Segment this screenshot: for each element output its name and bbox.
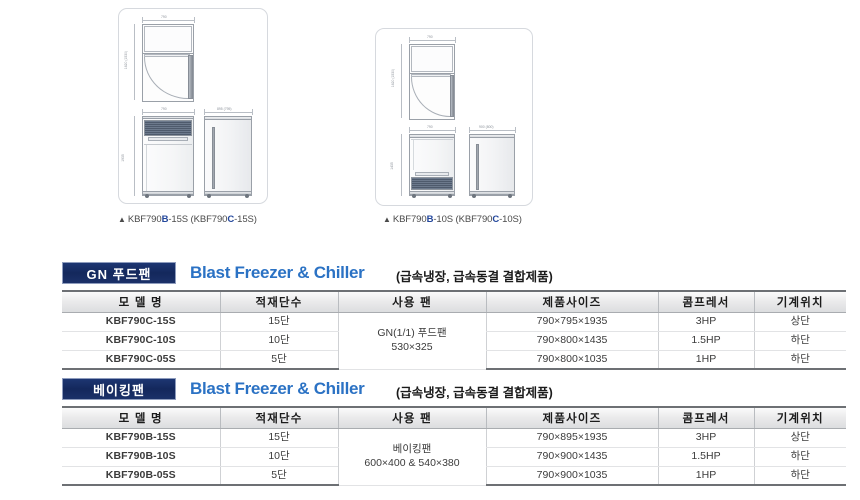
spec-section-gn-food-pan: GN 푸드팬 Blast Freezer & Chiller (급속냉장, 급속…	[62, 262, 846, 286]
cell-model: KBF790B-15S	[62, 428, 220, 447]
triangle-bullet-icon: ▲	[118, 215, 126, 224]
col-header-size: 제품사이즈	[486, 407, 658, 428]
col-header-model: 모 델 명	[62, 291, 220, 312]
cell-size: 790×795×1935	[486, 312, 658, 331]
section-title-main: Blast Freezer & Chiller	[190, 263, 365, 283]
cell-tiers: 5단	[220, 466, 338, 485]
dim-top-width-15s: 790	[161, 15, 167, 19]
cell-tiers: 10단	[220, 447, 338, 466]
section-badge-baking: 베이킹팬	[62, 378, 176, 400]
dim-side-height-15s: 1620 (1530)	[124, 51, 128, 69]
dim-depth-15s: 895 (795)	[217, 107, 232, 111]
cell-tiers: 10단	[220, 331, 338, 350]
cell-fan-merged: 베이킹팬600×400 & 540×380	[338, 428, 486, 485]
spec-table-gn: 모 델 명 적재단수 사용 팬 제품사이즈 콤프레서 기계위치 KBF790C-…	[62, 290, 846, 370]
col-header-fan: 사용 팬	[338, 291, 486, 312]
dim-front-height-10s: 1435	[390, 162, 394, 170]
triangle-bullet-icon: ▲	[383, 215, 391, 224]
diagram-block-10s: 790 1620 (1530) 790 1435	[375, 28, 533, 236]
cell-tiers: 5단	[220, 350, 338, 369]
cell-compressor: 3HP	[658, 312, 754, 331]
cell-model: KBF790C-05S	[62, 350, 220, 369]
dim-front-width-10s: 790	[427, 125, 433, 129]
spec-table-baking: 모 델 명 적재단수 사용 팬 제품사이즈 콤프레서 기계위치 KBF790B-…	[62, 406, 846, 486]
cell-position: 하단	[754, 447, 846, 466]
cell-position: 하단	[754, 466, 846, 485]
cell-compressor: 1HP	[658, 350, 754, 369]
section-title-sub: (급속냉장, 급속동결 결합제품)	[396, 382, 553, 401]
diagram-block-15s: 790 1620 (1530) 790 1935	[118, 8, 268, 236]
table-header-row: 모 델 명 적재단수 사용 팬 제품사이즈 콤프레서 기계위치	[62, 291, 846, 312]
spec-section-baking-pan: 베이킹팬 Blast Freezer & Chiller (급속냉장, 급속동결…	[62, 378, 846, 402]
col-header-fan: 사용 팬	[338, 407, 486, 428]
section-title-sub: (급속냉장, 급속동결 결합제품)	[396, 266, 553, 285]
table-row: KBF790C-15S 15단 GN(1/1) 푸드팬530×325 790×7…	[62, 312, 846, 331]
cell-size: 790×900×1035	[486, 466, 658, 485]
cell-compressor: 1.5HP	[658, 331, 754, 350]
col-header-tiers: 적재단수	[220, 407, 338, 428]
dim-top-width-10s: 790	[427, 35, 433, 39]
dim-depth-10s: 900 (800)	[479, 125, 494, 129]
cell-size: 790×895×1935	[486, 428, 658, 447]
col-header-position: 기계위치	[754, 291, 846, 312]
col-header-size: 제품사이즈	[486, 291, 658, 312]
cell-position: 상단	[754, 428, 846, 447]
table-row: KBF790B-15S 15단 베이킹팬600×400 & 540×380 79…	[62, 428, 846, 447]
section-header: 베이킹팬 Blast Freezer & Chiller (급속냉장, 급속동결…	[62, 378, 846, 402]
cell-size: 790×900×1435	[486, 447, 658, 466]
dim-front-width-15s: 790	[161, 107, 167, 111]
cell-size: 790×800×1435	[486, 331, 658, 350]
section-title-main: Blast Freezer & Chiller	[190, 379, 365, 399]
cell-tiers: 15단	[220, 428, 338, 447]
col-header-comp: 콤프레서	[658, 291, 754, 312]
cell-compressor: 3HP	[658, 428, 754, 447]
cell-compressor: 1HP	[658, 466, 754, 485]
cell-position: 상단	[754, 312, 846, 331]
cell-tiers: 15단	[220, 312, 338, 331]
diagram-caption-10s: ▲KBF790B-10S (KBF790C-10S)	[383, 214, 522, 225]
cell-model: KBF790C-10S	[62, 331, 220, 350]
col-header-position: 기계위치	[754, 407, 846, 428]
product-diagrams-area: 790 1620 (1530) 790 1935	[0, 0, 860, 240]
section-header: GN 푸드팬 Blast Freezer & Chiller (급속냉장, 급속…	[62, 262, 846, 286]
cell-position: 하단	[754, 350, 846, 369]
section-badge-gn: GN 푸드팬	[62, 262, 176, 284]
table-header-row: 모 델 명 적재단수 사용 팬 제품사이즈 콤프레서 기계위치	[62, 407, 846, 428]
cell-fan-merged: GN(1/1) 푸드팬530×325	[338, 312, 486, 369]
cell-compressor: 1.5HP	[658, 447, 754, 466]
col-header-comp: 콤프레서	[658, 407, 754, 428]
cell-model: KBF790B-05S	[62, 466, 220, 485]
dim-front-height-15s: 1935	[121, 154, 125, 162]
col-header-tiers: 적재단수	[220, 291, 338, 312]
col-header-model: 모 델 명	[62, 407, 220, 428]
dim-side-height-10s: 1620 (1530)	[391, 69, 395, 87]
cell-model: KBF790C-15S	[62, 312, 220, 331]
cell-size: 790×800×1035	[486, 350, 658, 369]
cell-position: 하단	[754, 331, 846, 350]
diagram-caption-15s: ▲KBF790B-15S (KBF790C-15S)	[118, 214, 257, 225]
cell-model: KBF790B-10S	[62, 447, 220, 466]
